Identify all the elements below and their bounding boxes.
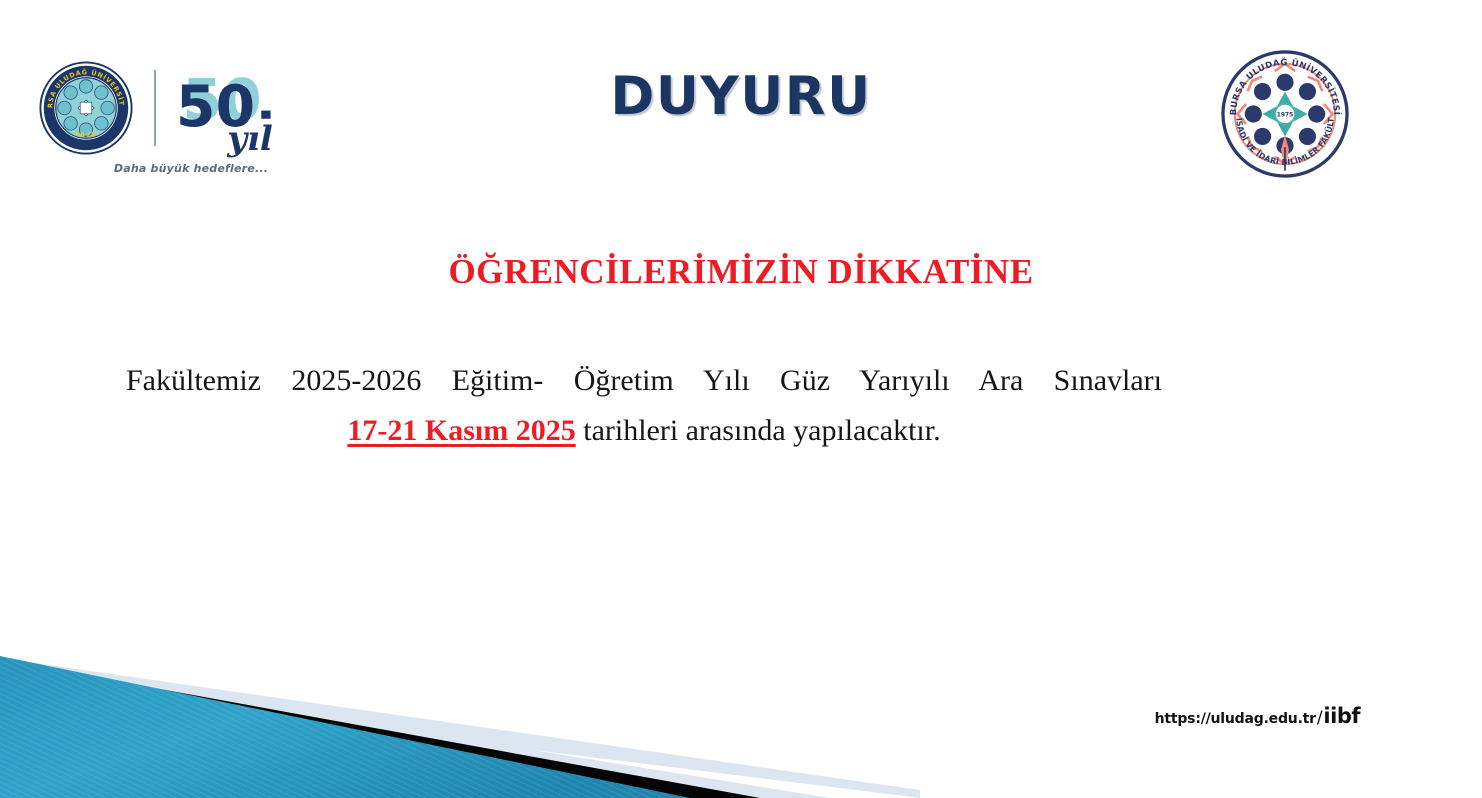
university-tagline: Daha büyük hedeflere... [86,162,296,175]
band-teal-texture [0,656,690,798]
band-teal [0,656,690,798]
iibf-faculty-seal-icon: 1975 BURSA ULUDAĞ ÜNİVERSİTESİ İKTİSADİ … [1219,48,1351,180]
announcement-body: Fakültemiz 2025-2026 Eğitim- Öğretim Yıl… [126,356,1162,456]
svg-text:1975: 1975 [1277,112,1294,119]
announcement-line-1: Fakültemiz 2025-2026 Eğitim- Öğretim Yıl… [126,356,1162,406]
footer-website-url[interactable]: https://uludag.edu.tr/iibf [1155,704,1360,728]
band-black [0,660,760,798]
decorative-corner-bands [0,638,920,798]
exam-date-highlight: 17-21 Kasım 2025 [347,414,575,447]
band-pale-blue [0,658,920,798]
attention-heading: ÖĞRENCİLERİMİZİN DİKKATİNE [0,252,1482,292]
announcement-line-2: 17-21 Kasım 2025 tarihleri arasında yapı… [126,406,1162,456]
announcement-line-2-rest: tarihleri arasında yapılacaktır. [576,414,941,447]
footer-url-unit: iibf [1323,704,1360,728]
slide-canvas: BURSA ULUDAĞ ÜNİVERSİTESİ 1975 50 50 yıl… [0,0,1482,798]
footer-url-base: https://uludag.edu.tr [1155,711,1316,727]
band-pale-blue-2 [0,664,830,798]
